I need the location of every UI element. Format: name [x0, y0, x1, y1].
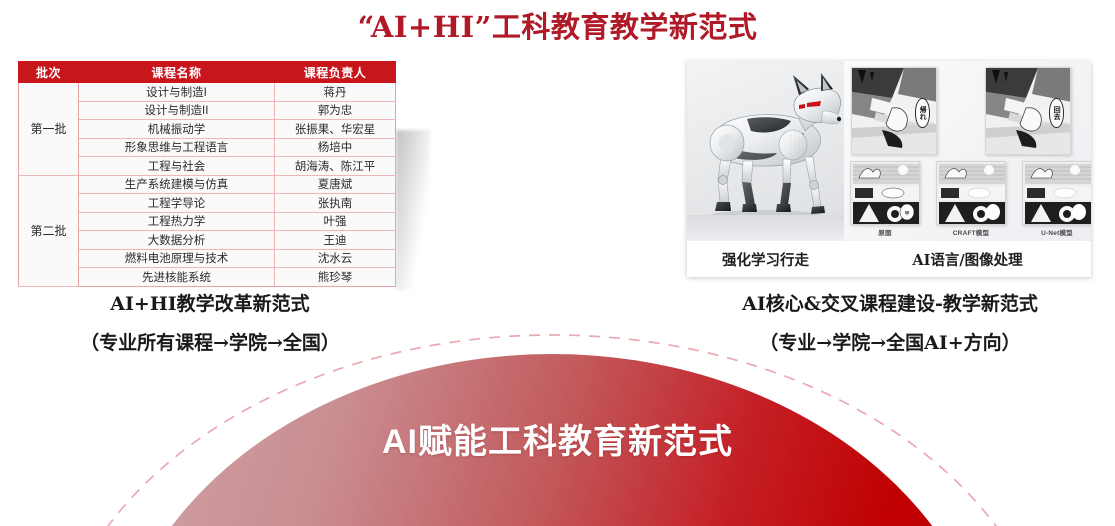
- manga-page-art-icon: [1023, 162, 1091, 225]
- figure-caption-left: 强化学习行走: [687, 249, 844, 270]
- figure-captions-row: 强化学习行走 AI语言/图像处理: [687, 241, 1091, 277]
- manga-bubble-original: 帰れ: [915, 98, 930, 128]
- manga-bubble-translated: 回去: [1049, 98, 1064, 128]
- course-lead: 王迪: [275, 231, 396, 250]
- caption-left-line2: （专业所有课程→学院→全国）: [10, 331, 410, 356]
- figure-panel: 帰れ: [687, 61, 1091, 277]
- manga-page-craft: [936, 161, 1006, 225]
- course-name: 工程学导论: [79, 194, 275, 213]
- course-lead: 郭为忠: [275, 101, 396, 120]
- course-lead: 沈水云: [275, 249, 396, 268]
- course-name: 先进核能系统: [79, 268, 275, 287]
- manga-page-art-icon: 甲: [851, 162, 920, 225]
- svg-text:甲: 甲: [904, 211, 909, 217]
- course-lead: 张振果、华宏星: [275, 120, 396, 139]
- manga-page-art-icon: [937, 162, 1006, 225]
- course-lead: 杨培中: [275, 138, 396, 157]
- manga-panel-translated: 回去: [985, 67, 1071, 155]
- course-lead: 蒋丹: [275, 83, 396, 102]
- manga-page-label: CRAFT模型: [936, 227, 1006, 237]
- manga-page-label: U-Net模型: [1022, 227, 1091, 237]
- course-name: 工程与社会: [79, 157, 275, 176]
- course-name: 设计与制造I: [79, 83, 275, 102]
- robot-dog-image: [687, 61, 844, 241]
- manga-figures: 帰れ: [844, 61, 1091, 241]
- robot-floor: [687, 215, 844, 241]
- manga-page-label: 原图: [850, 227, 920, 237]
- manga-top-row: 帰れ: [851, 67, 1071, 155]
- page-title: “AI+HI”工科教育教学新范式: [0, 4, 1115, 46]
- course-lead: 熊珍琴: [275, 268, 396, 287]
- caption-right-line1: AI核心&交叉课程建设-教学新范式: [690, 292, 1090, 317]
- manga-bottom-row: 甲 原图: [850, 161, 1091, 237]
- caption-left-line1: AI+HI教学改革新范式: [10, 292, 410, 317]
- manga-panel-original: 帰れ: [851, 67, 937, 155]
- table-header-lead: 课程负责人: [275, 62, 396, 83]
- course-lead: 张执南: [275, 194, 396, 213]
- course-name: 工程热力学: [79, 212, 275, 231]
- manga-page-group-original: 甲 原图: [850, 161, 920, 237]
- caption-right: AI核心&交叉课程建设-教学新范式 （专业→学院→全国AI+方向）: [690, 292, 1090, 355]
- course-name: 设计与制造II: [79, 101, 275, 120]
- course-lead: 叶强: [275, 212, 396, 231]
- figure-images-row: 帰れ: [687, 61, 1091, 241]
- dome-headline: AI赋能工科教育新范式: [0, 414, 1115, 463]
- slide-canvas: “AI+HI”工科教育教学新范式 批次 课程名称 课程负责人 第一批 设计与制造…: [0, 0, 1115, 526]
- robot-dog-icon: [687, 61, 844, 241]
- course-name: 大数据分析: [79, 231, 275, 250]
- course-lead: 胡海涛、陈江平: [275, 157, 396, 176]
- course-name: 生产系统建模与仿真: [79, 175, 275, 194]
- table-header-row: 批次 课程名称 课程负责人: [19, 62, 396, 83]
- table-drop-shadow: [396, 130, 430, 290]
- manga-page-group-craft: CRAFT模型: [936, 161, 1006, 237]
- caption-right-line2: （专业→学院→全国AI+方向）: [690, 331, 1090, 356]
- manga-page-group-unet: U-Net模型: [1022, 161, 1091, 237]
- caption-left: AI+HI教学改革新范式 （专业所有课程→学院→全国）: [10, 292, 410, 355]
- batch-cell-2: 第二批: [19, 175, 79, 286]
- table-header-batch: 批次: [19, 62, 79, 83]
- course-name: 形象思维与工程语言: [79, 138, 275, 157]
- course-lead: 夏唐斌: [275, 175, 396, 194]
- figure-caption-right: AI语言/图像处理: [844, 249, 1091, 270]
- course-table: 批次 课程名称 课程负责人 第一批 设计与制造I 蒋丹 设计与制造II 郭为忠 …: [18, 61, 396, 287]
- course-name: 机械振动学: [79, 120, 275, 139]
- table-header-course: 课程名称: [79, 62, 275, 83]
- course-name: 燃料电池原理与技术: [79, 249, 275, 268]
- table-row: 第一批 设计与制造I 蒋丹: [19, 83, 396, 102]
- manga-page-unet: [1022, 161, 1091, 225]
- table-row: 第二批 生产系统建模与仿真 夏唐斌: [19, 175, 396, 194]
- batch-cell-1: 第一批: [19, 83, 79, 176]
- course-table-container: 批次 课程名称 课程负责人 第一批 设计与制造I 蒋丹 设计与制造II 郭为忠 …: [18, 61, 395, 287]
- manga-page-original: 甲: [850, 161, 920, 225]
